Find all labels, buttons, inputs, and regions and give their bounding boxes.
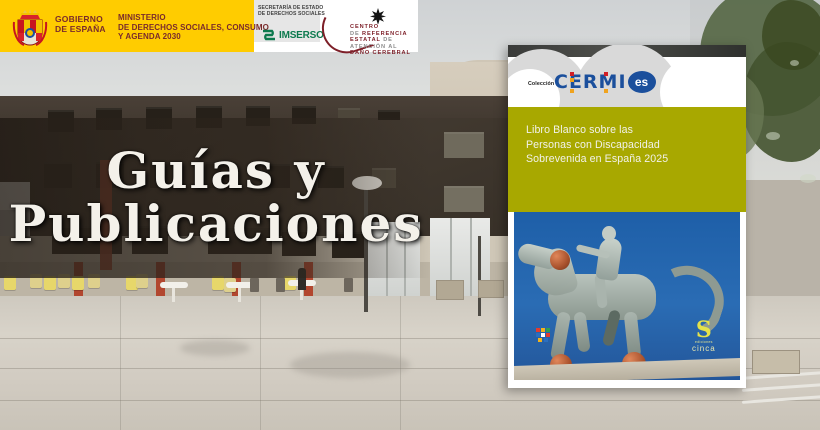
- book-title-line2: Personas con Discapacidad: [526, 138, 726, 153]
- ceadac-star-icon: [370, 8, 386, 24]
- banner-title-line2: Publicaciones: [0, 199, 432, 248]
- ministry-name: MINISTERIO DE DERECHOS SOCIALES, CONSUMO…: [118, 13, 269, 42]
- chair: [72, 276, 84, 290]
- chair: [44, 276, 56, 290]
- pavement-joint: [0, 400, 820, 401]
- stone-ledge: [514, 358, 740, 380]
- banner-title-line1: Guías y: [0, 146, 432, 195]
- ministry-line1: MINISTERIO: [118, 13, 269, 23]
- government-name: GOBIERNO DE ESPAÑA: [55, 15, 106, 34]
- window: [444, 186, 484, 212]
- ceadac-line1: CENTRO: [350, 24, 411, 31]
- ceadac-logo: CENTRO DE REFERENCIA ESTATAL DE ATENCIÓN…: [322, 4, 414, 50]
- window: [338, 108, 360, 118]
- imserso-logo: IMSERSO: [262, 28, 324, 42]
- copper-sphere: [550, 250, 570, 270]
- secondary-logo: [536, 328, 554, 344]
- ceadac-line3-a: ESTATAL: [350, 37, 381, 43]
- waste-bin: [250, 278, 259, 292]
- ceadac-line5: DAÑO CEREBRAL: [350, 50, 411, 57]
- imserso-label: IMSERSO: [279, 30, 324, 41]
- leaf-speck: [800, 174, 816, 183]
- secretaria-estado-name: SECRETARÍA DE ESTADO DE DERECHOS SOCIALE…: [258, 5, 325, 18]
- chair: [4, 276, 16, 290]
- coat-of-arms-icon: [12, 8, 48, 46]
- pavement-stain: [290, 352, 410, 378]
- rider-head: [602, 226, 616, 241]
- banner-stage: Guías y Publicaciones GOBIERNO DE ESPAÑ: [0, 0, 820, 430]
- cermi-dot-red: [570, 72, 574, 76]
- leaf-speck: [790, 60, 799, 66]
- waste-bin: [344, 278, 353, 292]
- cermi-es-badge: es: [628, 71, 656, 93]
- publisher-logo: S ediciones cinca: [692, 320, 716, 353]
- government-line2: DE ESPAÑA: [55, 25, 106, 35]
- publisher-name: cinca: [692, 344, 716, 353]
- book-cover[interactable]: Colección CERMI es Libro Blanco sobre la…: [508, 45, 746, 388]
- leaf-speck: [766, 132, 780, 140]
- book-cover-photo: S ediciones cinca: [514, 212, 740, 380]
- book-title-line3: Sobrevenida en España 2025: [526, 152, 726, 167]
- cermi-dot-orange: [604, 89, 608, 93]
- pavement-joint: [120, 296, 121, 430]
- publisher-mark: S: [692, 320, 716, 340]
- ceadac-line2-b: REFERENCIA: [362, 31, 407, 37]
- table-leg: [238, 288, 241, 302]
- cermi-dot-orange: [570, 78, 574, 82]
- ministry-line2: DE DERECHOS SOCIALES, CONSUMO: [118, 23, 269, 33]
- pavement-stain: [180, 340, 250, 356]
- planter: [436, 280, 464, 300]
- book-title-line1: Libro Blanco sobre las: [526, 123, 726, 138]
- book-title: Libro Blanco sobre las Personas con Disc…: [526, 123, 726, 167]
- secretaria-line2: DE DERECHOS SOCIALES: [258, 11, 325, 17]
- cermi-wordmark: CERMI: [554, 71, 627, 93]
- lamp-post: [478, 236, 481, 316]
- mullion: [470, 218, 472, 298]
- cermi-dot-red: [604, 72, 608, 76]
- imserso-mark-icon: [262, 28, 276, 42]
- planter: [752, 350, 800, 374]
- table-leg: [172, 288, 175, 302]
- chair: [212, 276, 224, 290]
- institutional-header: GOBIERNO DE ESPAÑA MINISTERIO DE DERECHO…: [0, 0, 418, 52]
- planter: [478, 280, 504, 298]
- pavement-joint: [260, 296, 261, 430]
- horse-tail: [643, 257, 732, 344]
- collection-label: Colección: [528, 81, 554, 87]
- ministry-line3: Y AGENDA 2030: [118, 32, 269, 42]
- window: [444, 132, 484, 158]
- ceadac-line2-a: DE: [350, 31, 360, 37]
- book-bottom-edge: [508, 380, 746, 388]
- ceadac-line3-b: DE: [383, 37, 393, 43]
- banner-title: Guías y Publicaciones: [0, 146, 432, 248]
- ceadac-wordmark: CENTRO DE REFERENCIA ESTATAL DE ATENCIÓN…: [350, 24, 411, 57]
- cermi-dot-orange: [570, 89, 574, 93]
- book-olive-strip: [508, 203, 746, 212]
- waste-bin: [276, 278, 285, 292]
- tree-foliage: [762, 0, 820, 70]
